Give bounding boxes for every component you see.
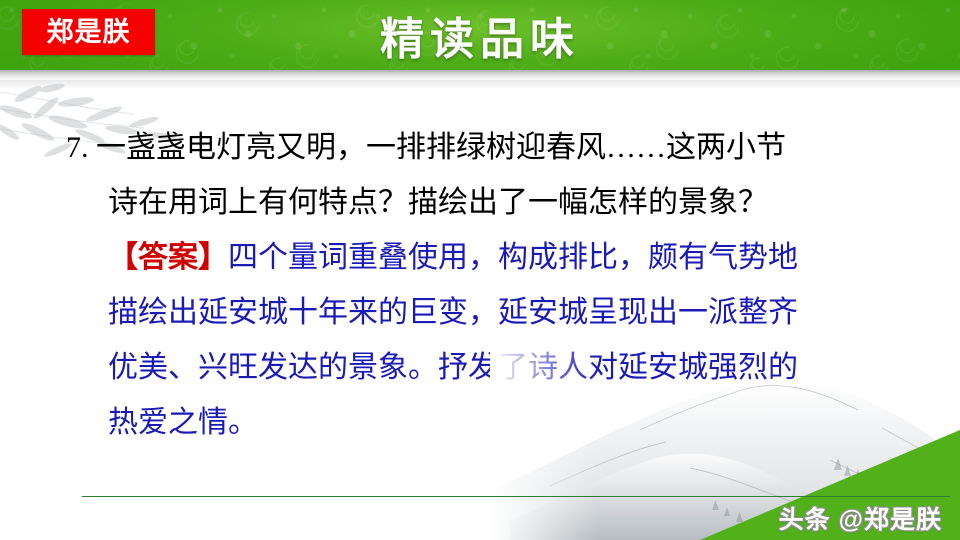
slide-canvas: 郑是朕 精读品味 7. 一盏盏电灯亮又明，一排排绿树迎 — [0, 0, 960, 540]
header-underline-strip — [0, 70, 960, 80]
slide-body: 7. 一盏盏电灯亮又明，一排排绿树迎春风……这两小节 诗在用词上有何特点？描绘出… — [0, 120, 960, 450]
answer-tag: 【答案】 — [108, 241, 228, 274]
question-line-1: 7. 一盏盏电灯亮又明，一排排绿树迎春风……这两小节 — [0, 120, 960, 175]
answer-line-3: 优美、兴旺发达的景象。抒发了诗人对延安城强烈的 — [0, 340, 960, 395]
question-line-2: 诗在用词上有何特点？描绘出了一幅怎样的景象？ — [0, 175, 960, 230]
watermark-label: 头条 @郑是朕 — [779, 500, 942, 536]
answer-line-2: 描绘出延安城十年来的巨变，延安城呈现出一派整齐 — [0, 285, 960, 340]
brand-badge-label: 郑是朕 — [47, 19, 131, 46]
footer-divider — [82, 496, 950, 497]
answer-line-1-text: 四个量词重叠使用，构成排比，颇有气势地 — [228, 241, 798, 274]
answer-line-4: 热爱之情。 — [0, 395, 960, 450]
brand-badge[interactable]: 郑是朕 — [22, 9, 155, 55]
answer-line-1: 【答案】四个量词重叠使用，构成排比，颇有气势地 — [0, 230, 960, 285]
header-drop-shadow — [0, 80, 960, 89]
